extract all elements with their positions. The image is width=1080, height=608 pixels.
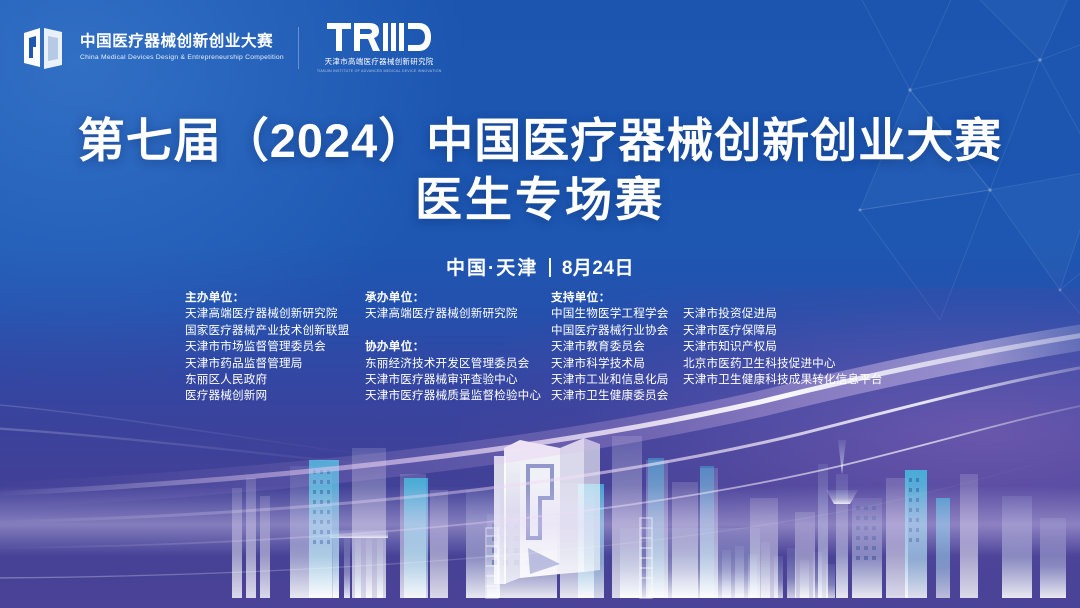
supporter-item: 天津市科学技术局 (551, 356, 683, 372)
event-meta: 中国·天津 8月24日 (0, 253, 1080, 280)
city-skyline-icon (0, 378, 1080, 608)
open-door-icon (22, 25, 66, 71)
supporters-heading: 支持单位： (551, 290, 683, 306)
event-date: 8月24日 (562, 253, 634, 280)
host-item: 国家医疗器械产业技术创新联盟 (185, 323, 365, 339)
competition-logotype: 中国医疗器械创新创业大赛 China Medical Devices Desig… (80, 33, 280, 62)
host-item: 天津市药品监督管理局 (185, 356, 365, 372)
coorganizer-item: 天津市医疗器械质量监督检验中心 (365, 388, 551, 404)
undertaker-heading: 承办单位： (365, 290, 551, 306)
logo-title-cn: 中国医疗器械创新创业大赛 (80, 33, 280, 51)
organizers-column-supporters-b: 天津市投资促进局 天津市医疗保障局 天津市知识产权局 北京市医药卫生科技促进中心… (683, 290, 895, 388)
event-location: 中国·天津 (446, 253, 538, 280)
coorganizer-item: 天津市医疗器械审评查验中心 (365, 372, 551, 388)
supporter-item: 天津市知识产权局 (683, 339, 895, 355)
organizers-column-supporters-a: 支持单位： 中国生物医学工程学会 中国医疗器械行业协会 天津市教育委员会 天津市… (551, 290, 683, 405)
partner-name-en: TIANJIN INSTITUTE OF ADVANCED MEDICAL DE… (317, 69, 442, 73)
ground-haze (0, 486, 1080, 556)
host-item: 天津市市场监督管理委员会 (185, 339, 365, 355)
trmd-wordmark-icon (327, 22, 431, 52)
host-item: 天津高端医疗器械创新研究院 (185, 306, 365, 322)
meta-separator (549, 258, 551, 277)
logo-title-en: China Medical Devices Design & Entrepren… (80, 54, 284, 62)
host-heading: 主办单位： (185, 290, 365, 306)
supporter-item: 北京市医药卫生科技促进中心 (683, 356, 895, 372)
event-poster: 中国医疗器械创新创业大赛 China Medical Devices Desig… (0, 0, 1080, 608)
organizers-column-host: 主办单位： 天津高端医疗器械创新研究院 国家医疗器械产业技术创新联盟 天津市市场… (185, 290, 365, 405)
supporter-item: 天津市工业和信息化局 (551, 372, 683, 388)
supporter-item: 天津市卫生健康委员会 (551, 388, 683, 404)
organizers-column-undertaker: 承办单位： 天津高端医疗器械创新研究院 协办单位： 东丽经济技术开发区管理委员会… (365, 290, 551, 405)
page-title: 第七届（2024）中国医疗器械创新创业大赛 (0, 112, 1080, 169)
partner-logo: 天津市高端医疗器械创新研究院 TIANJIN INSTITUTE OF ADVA… (317, 22, 442, 73)
supporter-item: 中国医疗器械行业协会 (551, 323, 683, 339)
column-spacer (365, 323, 551, 339)
logo-divider (298, 27, 299, 69)
coorganizer-item: 东丽经济技术开发区管理委员会 (365, 356, 551, 372)
page-subtitle: 医生专场赛 (0, 171, 1080, 228)
organizations-block: 主办单位： 天津高端医疗器械创新研究院 国家医疗器械产业技术创新联盟 天津市市场… (0, 290, 1080, 405)
host-item: 医疗器械创新网 (185, 388, 365, 404)
supporter-item: 中国生物医学工程学会 (551, 306, 683, 322)
title-block: 第七届（2024）中国医疗器械创新创业大赛 医生专场赛 中国·天津 8月24日 (0, 112, 1080, 280)
undertaker-item: 天津高端医疗器械创新研究院 (365, 306, 551, 322)
column-spacer (683, 290, 895, 306)
supporter-item: 天津市卫生健康科技成果转化信息平台 (683, 372, 895, 388)
supporter-item: 天津市医疗保障局 (683, 323, 895, 339)
header-logos: 中国医疗器械创新创业大赛 China Medical Devices Desig… (22, 22, 442, 73)
partner-name-cn: 天津市高端医疗器械创新研究院 (325, 56, 434, 67)
supporter-item: 天津市投资促进局 (683, 306, 895, 322)
coorganizer-heading: 协办单位： (365, 339, 551, 355)
supporter-item: 天津市教育委员会 (551, 339, 683, 355)
gate-landmark (494, 438, 600, 584)
host-item: 东丽区人民政府 (185, 372, 365, 388)
